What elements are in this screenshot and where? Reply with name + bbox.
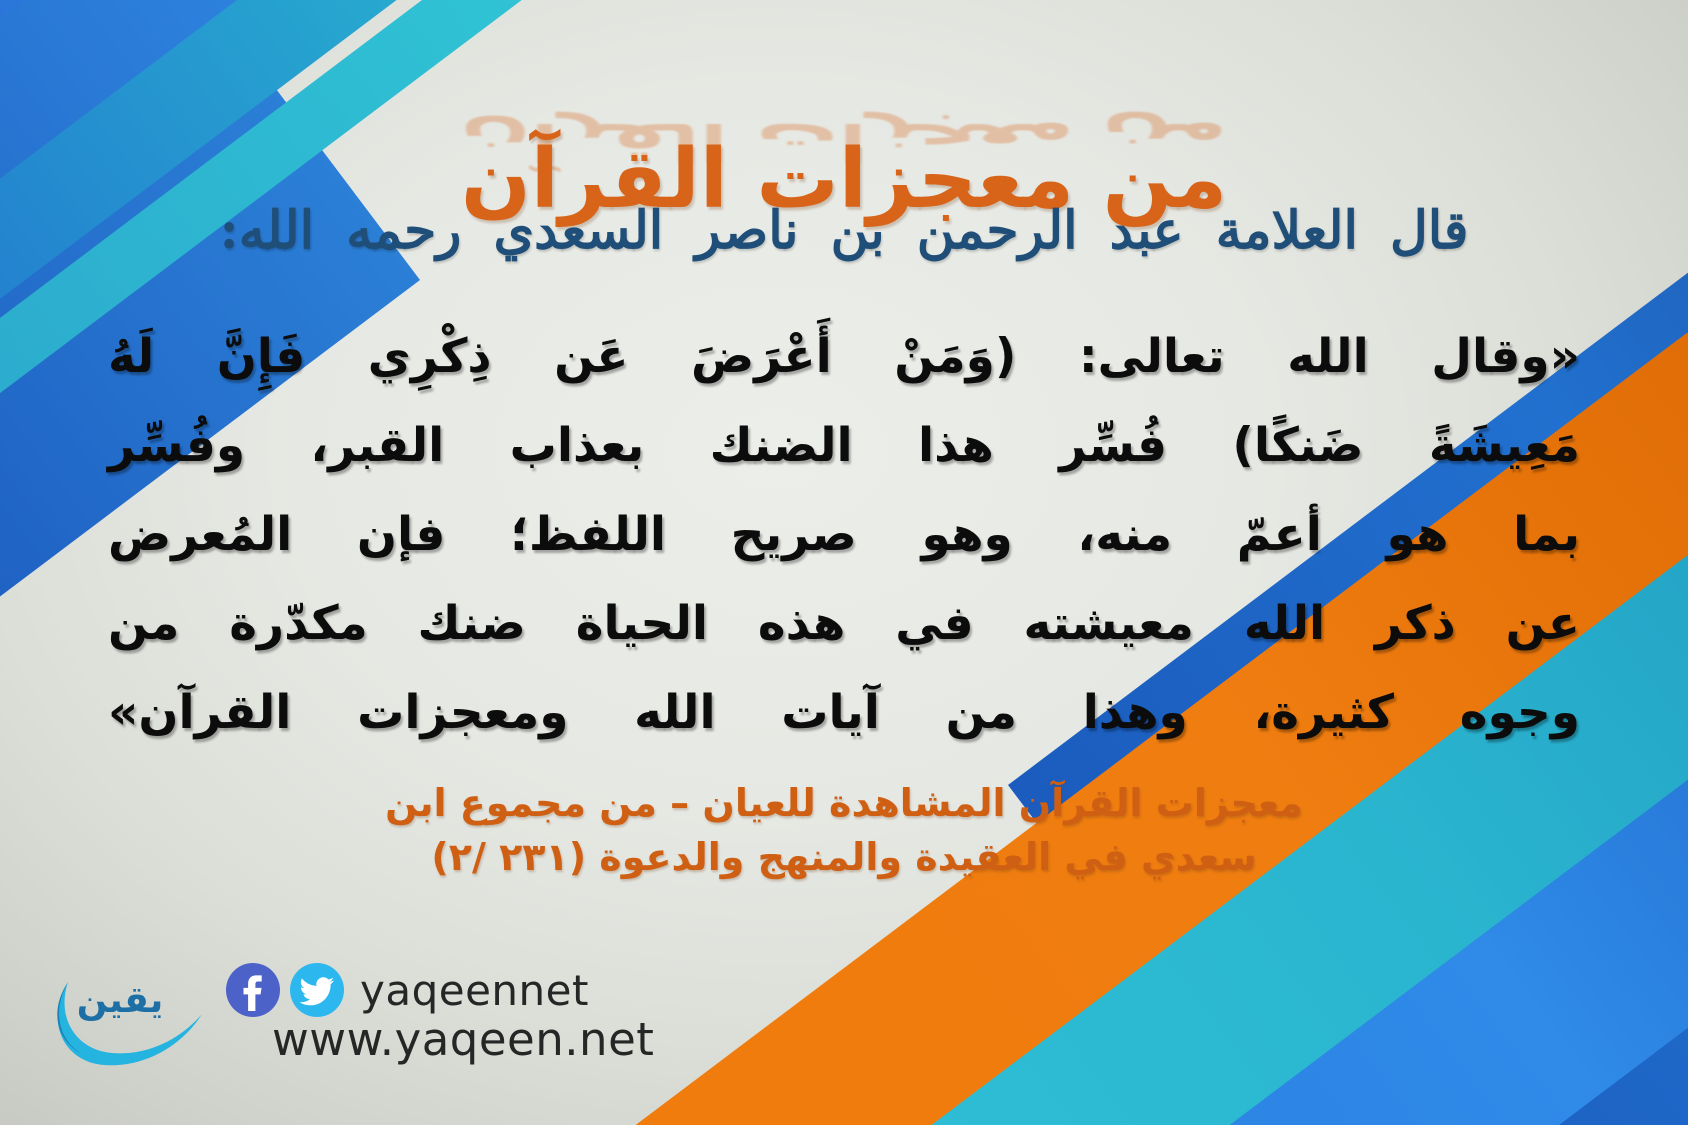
footer-brand-bar: يقين yaqeennet www.yaqe — [42, 963, 654, 1070]
citation-line: معجزات القرآن المشاهدة للعيان – من مجموع… — [190, 776, 1498, 830]
quote-line: وجوه كثيرة، وهذا من آيات الله ومعجزات ال… — [108, 668, 1580, 757]
poster-canvas: من معجزات القرآن من معجزات القرآن قال ال… — [0, 0, 1688, 1125]
brand-word: يقين — [42, 980, 198, 1021]
quote-body: «وقال الله تعالى: (وَمَنْ أَعْرَضَ عَن ذ… — [108, 312, 1580, 757]
social-links: yaqeennet www.yaqeen.net — [226, 963, 654, 1070]
citation-line: سعدي في العقيدة والمنهج والدعوة (٢٣١ /٢) — [190, 830, 1498, 884]
source-citation: معجزات القرآن المشاهدة للعيان – من مجموع… — [190, 776, 1498, 884]
social-row: yaqeennet — [226, 963, 654, 1017]
twitter-icon[interactable] — [290, 963, 344, 1017]
quote-line: «وقال الله تعالى: (وَمَنْ أَعْرَضَ عَن ذ… — [108, 312, 1580, 401]
yaqeen-logo: يقين — [42, 966, 212, 1070]
social-handle[interactable]: yaqeennet — [360, 966, 589, 1015]
quote-line: مَعِيشَةً ضَنكًا) فُسِّر هذا الضنك بعذاب… — [108, 401, 1580, 490]
poster-attribution: قال العلامة عبد الرحمن بن ناصر السعدي رح… — [0, 200, 1688, 261]
facebook-icon[interactable] — [226, 963, 280, 1017]
quote-line: عن ذكر الله معيشته في هذه الحياة ضنك مكد… — [108, 579, 1580, 668]
website-url[interactable]: www.yaqeen.net — [272, 1013, 654, 1066]
quote-line: بما هو أعمّ منه، وهو صريح اللفظ؛ فإن الم… — [108, 490, 1580, 579]
